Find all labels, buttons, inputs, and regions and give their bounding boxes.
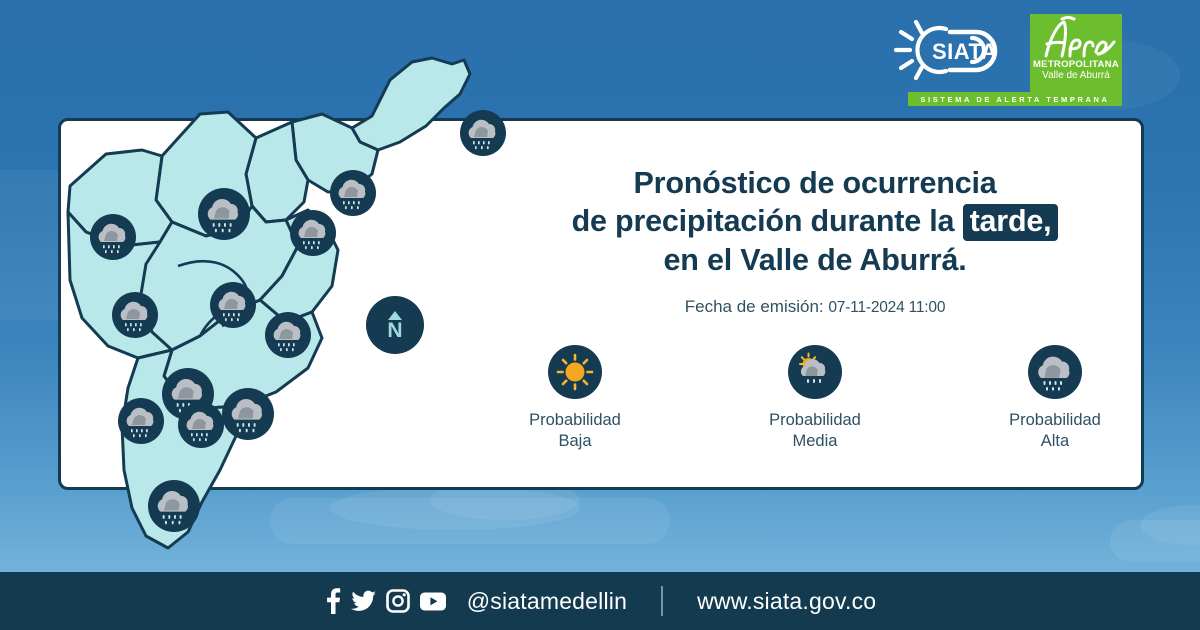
title-line-1: Pronóstico de ocurrencia	[500, 164, 1130, 202]
social-icons	[324, 587, 447, 615]
footer-divider	[661, 586, 663, 616]
forecast-content: Pronóstico de ocurrencia de precipitació…	[500, 130, 1130, 452]
legend-item-baja: Probabilidad Baja	[500, 345, 650, 452]
map-marker-copacabana[interactable]	[290, 210, 336, 256]
map-marker-envigado[interactable]	[222, 388, 274, 440]
compass-label: N	[387, 321, 402, 340]
page-title: Pronóstico de ocurrencia de precipitació…	[500, 130, 1130, 279]
legend-label-baja-line1: Probabilidad	[529, 410, 621, 431]
footer-bar: @siatamedellin www.siata.gov.co	[0, 572, 1200, 630]
legend-label-baja: Probabilidad Baja	[529, 410, 621, 452]
title-line-2: de precipitación durante la tarde,	[500, 202, 1130, 241]
legend-label-alta-line1: Probabilidad	[1009, 410, 1101, 431]
sun-icon	[548, 345, 602, 399]
legend-item-alta: Probabilidad Alta	[980, 345, 1130, 452]
legend-item-media: Probabilidad Media	[740, 345, 890, 452]
facebook-icon[interactable]	[324, 587, 342, 615]
map-marker-la-estrella[interactable]	[118, 398, 164, 444]
emission-date: Fecha de emisión: 07-11-2024 11:00	[500, 297, 1130, 317]
highlight-tarde: tarde,	[963, 204, 1059, 241]
siata-logo: SIATA	[888, 14, 1016, 86]
siata-tagline-text: SISTEMA DE ALERTA TEMPRANA	[920, 95, 1109, 104]
area-metropolitana-line1: METROPOLITANA	[1033, 60, 1119, 70]
area-metropolitana-logo: METROPOLITANA Valle de Aburrá	[1030, 14, 1122, 92]
siata-wordmark: SIATA	[932, 39, 997, 64]
map-marker-bello[interactable]	[198, 188, 250, 240]
map-marker-san-pedro[interactable]	[90, 214, 136, 260]
map-marker-sabaneta[interactable]	[178, 402, 224, 448]
siata-tagline-bar: SISTEMA DE ALERTA TEMPRANA	[908, 92, 1122, 106]
sun-cloud-rain-icon	[788, 345, 842, 399]
website-url[interactable]: www.siata.gov.co	[697, 588, 876, 615]
map-marker-angelopolis[interactable]	[112, 292, 158, 338]
probability-legend: Probabilidad Baja	[500, 345, 1130, 452]
area-metropolitana-line2: Valle de Aburrá	[1042, 70, 1110, 81]
legend-label-baja-line2: Baja	[529, 431, 621, 452]
map-marker-medellin[interactable]	[210, 282, 256, 328]
title-line-3: en el Valle de Aburrá.	[500, 241, 1130, 279]
social-handle[interactable]: @siatamedellin	[467, 588, 627, 615]
legend-label-alta-line2: Alta	[1009, 431, 1101, 452]
twitter-icon[interactable]	[351, 588, 377, 614]
map-marker-girardota[interactable]	[330, 170, 376, 216]
legend-label-media-line2: Media	[769, 431, 861, 452]
legend-label-media-line1: Probabilidad	[769, 410, 861, 431]
instagram-icon[interactable]	[386, 589, 410, 613]
valle-de-aburra-map: N	[60, 50, 480, 570]
legend-label-alta: Probabilidad Alta	[1009, 410, 1101, 452]
emission-label: Fecha de emisión:	[685, 297, 824, 316]
logo-group: SIATA METROPOLITANA Valle de Aburrá	[888, 14, 1122, 92]
youtube-icon[interactable]	[419, 591, 447, 612]
cloud-heavy-rain-icon	[1028, 345, 1082, 399]
map-marker-guarne[interactable]	[265, 312, 311, 358]
compass-north-icon: N	[366, 296, 424, 354]
map-region-barbosa	[352, 58, 470, 150]
title-line-2-text: de precipitación durante la	[572, 204, 955, 238]
area-script-icon	[1034, 16, 1118, 60]
emission-value: 07-11-2024 11:00	[828, 299, 945, 316]
legend-label-media: Probabilidad Media	[769, 410, 861, 452]
map-marker-caldas[interactable]	[148, 480, 200, 532]
